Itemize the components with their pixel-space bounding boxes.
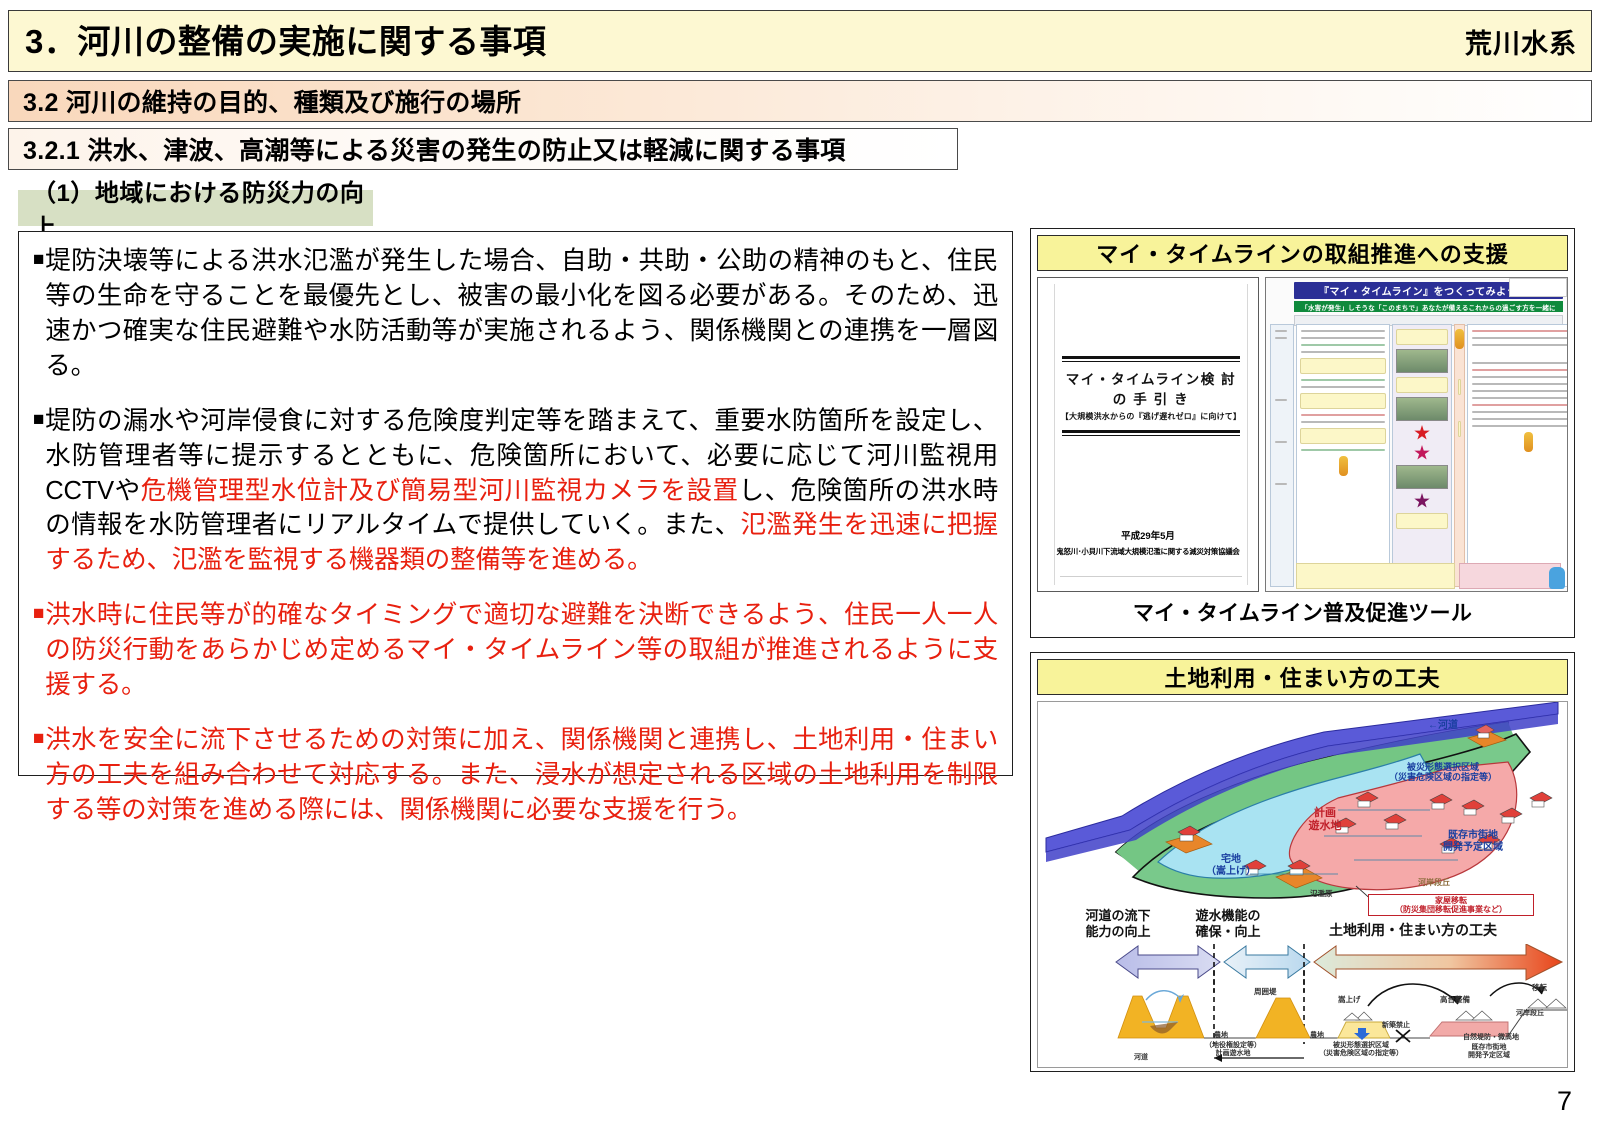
poster-character-icon <box>1455 329 1464 349</box>
section-heading-3-2-1: 3.2.1 洪水、津波、高潮等による災害の発生の防止又は軽減に関する事項 <box>8 128 958 170</box>
poster-headline: 『マイ・タイムライン』をつくってみよう！！ <box>1319 283 1538 298</box>
booklet-cover-image: マイ・タイムライン検 討 の 手 引 き 【大規模洪水からの『逃げ遅れゼロ』に向… <box>1037 277 1259 592</box>
poster-line <box>1301 449 1385 451</box>
xsec-label-river: 河道 <box>1134 1054 1148 1062</box>
panel-land-use-title: 土地利用・住まい方の工夫 <box>1037 659 1568 695</box>
map-label-existing-urban: 既存市街地 開発予定区域 <box>1418 830 1528 853</box>
xsec-label-no-build: 新築禁止 <box>1382 1022 1410 1030</box>
map-label-retarding-basin: 計画 遊水地 <box>1290 807 1360 832</box>
poster-alert-star-icon <box>1414 445 1430 461</box>
main-text-box: ■堤防決壊等による洪水氾濫が発生した場合、自助・共助・公助の精神のもと、住民等の… <box>18 231 1013 776</box>
paragraph-bullet-icon: ■ <box>33 404 45 579</box>
booklet-footer: 平成29年5月 鬼怒川･小貝川下流域大規模氾濫に関する減災対策協議会 <box>1038 528 1258 557</box>
booklet-rule-bottom2 <box>1062 435 1240 436</box>
section-heading-3-2-1-label: 3.2.1 洪水、津波、高潮等による災害の発生の防止又は軽減に関する事項 <box>23 131 846 167</box>
poster-line <box>1472 411 1568 413</box>
xsec-label-ring-levee: 周囲堤 <box>1254 988 1277 997</box>
poster-column-media <box>1392 324 1452 587</box>
body-paragraph: ■堤防の漏水や河岸侵食に対する危険度判定等を踏まえて、重要水防箇所を設定し、水防… <box>33 404 998 579</box>
poster-character-icon <box>1339 456 1348 476</box>
poster-chip <box>1458 379 1461 395</box>
paragraph-bullet-icon: ■ <box>33 723 45 828</box>
booklet-subtitle: 【大規模洪水からの『逃げ遅れゼロ』に向けて】 <box>1056 411 1246 422</box>
body-paragraph: ■洪水時に住民等が的確なタイミングで適切な避難を決断できるよう、住民一人一人の防… <box>33 598 998 703</box>
poster-line <box>1301 421 1385 423</box>
poster-line <box>1472 369 1568 371</box>
poster-line <box>1275 483 1287 485</box>
band-label-land-use: 土地利用・住まい方の工夫 <box>1288 922 1538 939</box>
poster-grid <box>1270 324 1563 587</box>
paragraph-bullet-icon: ■ <box>33 244 45 384</box>
booklet-date: 平成29年5月 <box>1038 528 1258 542</box>
river-system-label: 荒川水系 <box>1465 22 1577 61</box>
land-use-perspective-map: ←河道 被災形態選択区域 （災害危険区域の指定等） 計画 遊水地 宅地 （嵩上げ… <box>1038 702 1567 907</box>
map-label-river: ←河道 <box>1428 720 1458 732</box>
poster-footer-note-pink <box>1459 563 1561 589</box>
poster-line <box>1301 330 1385 332</box>
poster-line <box>1472 404 1568 406</box>
booklet-rule-top <box>1062 356 1240 359</box>
section-heading-3-2-label: 3.2 河川の維持の目的、種類及び施行の場所 <box>23 83 521 119</box>
poster-chip <box>1458 421 1461 437</box>
poster-chip <box>1396 377 1448 393</box>
timeline-poster-image: 『マイ・タイムライン』をつくってみよう！！ 「水害が発生」しそうな「このまちで」… <box>1265 277 1568 592</box>
xsec-label-highland: 高台整備 <box>1440 996 1470 1005</box>
poster-chip <box>1300 393 1386 409</box>
map-label-river-terrace: 河岸段丘 <box>1418 878 1450 887</box>
text-run: 洪水時に住民等が的確なタイミングで適切な避難を決断できるよう、住民一人一人の防災… <box>45 601 998 699</box>
land-use-cross-section: 河道 農地 （地役権設定等） 計画遊水地 周囲堤 農地 被災形態選択区域 （災害… <box>1038 970 1567 1067</box>
paragraph-text: 洪水時に住民等が的確なタイミングで適切な避難を決断できるよう、住民一人一人の防災… <box>45 598 998 703</box>
poster-photo <box>1396 397 1448 421</box>
poster-line <box>1472 418 1568 420</box>
map-label-zone-select: 被災形態選択区域 （災害危険区域の指定等） <box>1368 762 1518 783</box>
xsec-label-farmland-1-note: （地役権設定等） 計画遊水地 <box>1178 1042 1288 1058</box>
booklet-rule-bottom <box>1062 430 1240 433</box>
poster-photo <box>1396 465 1448 489</box>
poster-line <box>1472 376 1568 378</box>
panel-land-use: 土地利用・住まい方の工夫 <box>1030 652 1575 1072</box>
poster-photo <box>1396 349 1448 373</box>
document-header: 3．河川の整備の実施に関する事項 荒川水系 <box>8 10 1592 72</box>
poster-line <box>1472 344 1568 346</box>
xsec-label-relocate: 移転 <box>1532 984 1547 993</box>
poster-chip <box>1300 358 1386 374</box>
panel-my-timeline: マイ・タイムラインの取組推進への支援 マイ・タイムライン検 討 の 手 引 き … <box>1030 228 1575 638</box>
poster-line <box>1301 386 1385 388</box>
panel-my-timeline-body: マイ・タイムライン検 討 の 手 引 き 【大規模洪水からの『逃げ遅れゼロ』に向… <box>1037 277 1568 592</box>
poster-chip <box>1396 513 1448 529</box>
panel-my-timeline-title: マイ・タイムラインの取組推進への支援 <box>1037 235 1568 271</box>
poster-chip <box>1300 428 1386 444</box>
band-label-flow-capacity: 河道の流下 能力の向上 <box>1068 908 1168 939</box>
poster-line <box>1301 379 1385 381</box>
panel-land-use-title-text: 土地利用・住まい方の工夫 <box>1164 661 1440 693</box>
booklet-rule-top2 <box>1062 361 1240 362</box>
poster-line <box>1275 399 1287 401</box>
poster-alert-star-icon <box>1414 493 1430 509</box>
poster-chip <box>1396 329 1448 345</box>
panel-land-use-body: ←河道 被災形態選択区域 （災害危険区域の指定等） 計画 遊水地 宅地 （嵩上げ… <box>1037 701 1568 1068</box>
paragraph-text: 堤防決壊等による洪水氾濫が発生した場合、自助・共助・公助の精神のもと、住民等の生… <box>45 244 998 384</box>
poster-line <box>1275 441 1287 443</box>
poster-line <box>1275 330 1287 332</box>
poster-line <box>1301 344 1385 346</box>
paragraph-text: 堤防の漏水や河岸侵食に対する危険度判定等を踏まえて、重要水防箇所を設定し、水防管… <box>45 404 998 579</box>
band-label-retarding-function: 遊水機能の 確保・向上 <box>1178 908 1278 939</box>
xsec-label-natural-levee: 自然堤防・微高地 <box>1436 1034 1546 1042</box>
poster-line <box>1301 337 1385 339</box>
text-run: 洪水を安全に流下させるための対策に加え、関係機関と連携し、土地利用・住まい方の工… <box>45 726 998 824</box>
panel-my-timeline-title-text: マイ・タイムラインの取組推進への支援 <box>1096 237 1508 269</box>
xsec-label-terrace: 河岸段丘 <box>1516 1010 1544 1018</box>
poster-line <box>1472 337 1568 339</box>
text-run: 堤防決壊等による洪水氾濫が発生した場合、自助・共助・公助の精神のもと、住民等の生… <box>45 247 998 380</box>
poster-subheadline-band: 「水害が発生」しそうな「このまちで」あなたが備えるこれからの過ごす方を一緒に <box>1294 301 1563 312</box>
xsec-label-farmland-1: 農地 <box>1214 1032 1228 1040</box>
poster-logo <box>1509 278 1567 297</box>
poster-line <box>1301 414 1385 416</box>
panel-my-timeline-caption: マイ・タイムライン普及促進ツール <box>1037 597 1568 627</box>
page-number: 7 <box>1557 1086 1572 1117</box>
poster-line <box>1472 383 1568 385</box>
poster-mascot-icon <box>1549 567 1565 589</box>
poster-column-time <box>1270 324 1294 587</box>
body-paragraph: ■堤防決壊等による洪水氾濫が発生した場合、自助・共助・公助の精神のもと、住民等の… <box>33 244 998 384</box>
paragraph-bullet-icon: ■ <box>33 598 45 703</box>
text-run: 危機管理型水位計及び簡易型河川監視カメラを設置 <box>141 477 739 505</box>
body-paragraph: ■洪水を安全に流下させるための対策に加え、関係機関と連携し、土地利用・住まい方の… <box>33 723 998 828</box>
xsec-label-existing-urban: 既存市街地 開発予定区域 <box>1434 1044 1544 1060</box>
booklet-bottom-rule <box>1060 576 1242 577</box>
poster-character-icon <box>1524 432 1533 452</box>
section-heading-3-2: 3.2 河川の維持の目的、種類及び施行の場所 <box>8 80 1592 122</box>
poster-alert-star-icon <box>1414 425 1430 441</box>
map-label-residential: 宅地 （嵩上げ） <box>1198 854 1264 877</box>
poster-column-notes <box>1467 324 1568 587</box>
map-label-floodplain: 氾濫原 <box>1310 890 1333 899</box>
poster-column-actions <box>1296 324 1390 587</box>
poster-line <box>1472 390 1568 392</box>
page-title: 3．河川の整備の実施に関する事項 <box>25 25 546 58</box>
poster-column-timeline <box>1454 324 1465 587</box>
poster-footer-note-yellow <box>1296 563 1455 589</box>
subsection-label: （1）地域における防災力の向上 <box>18 190 373 226</box>
paragraph-text: 洪水を安全に流下させるための対策に加え、関係機関と連携し、土地利用・住まい方の工… <box>45 723 998 828</box>
poster-line <box>1301 351 1385 353</box>
poster-line <box>1472 362 1568 364</box>
poster-line <box>1472 330 1568 332</box>
xsec-label-zone-select: 被災形態選択区域 （災害危険区域の指定等） <box>1306 1042 1416 1058</box>
xsec-label-farmland-2: 農地 <box>1310 1032 1324 1040</box>
poster-line <box>1472 425 1568 427</box>
poster-subheadline: 「水害が発生」しそうな「このまちで」あなたが備えるこれからの過ごす方を一緒に <box>1301 302 1555 312</box>
booklet-title: マイ・タイムライン検 討 の 手 引 き <box>1056 368 1246 408</box>
xsec-label-raise: 嵩上げ <box>1338 996 1361 1005</box>
booklet-organization: 鬼怒川･小貝川下流域大規模氾濫に関する減災対策協議会 <box>1038 546 1258 557</box>
poster-line <box>1472 397 1568 399</box>
poster-footer <box>1296 563 1561 589</box>
poster-line <box>1275 337 1287 339</box>
